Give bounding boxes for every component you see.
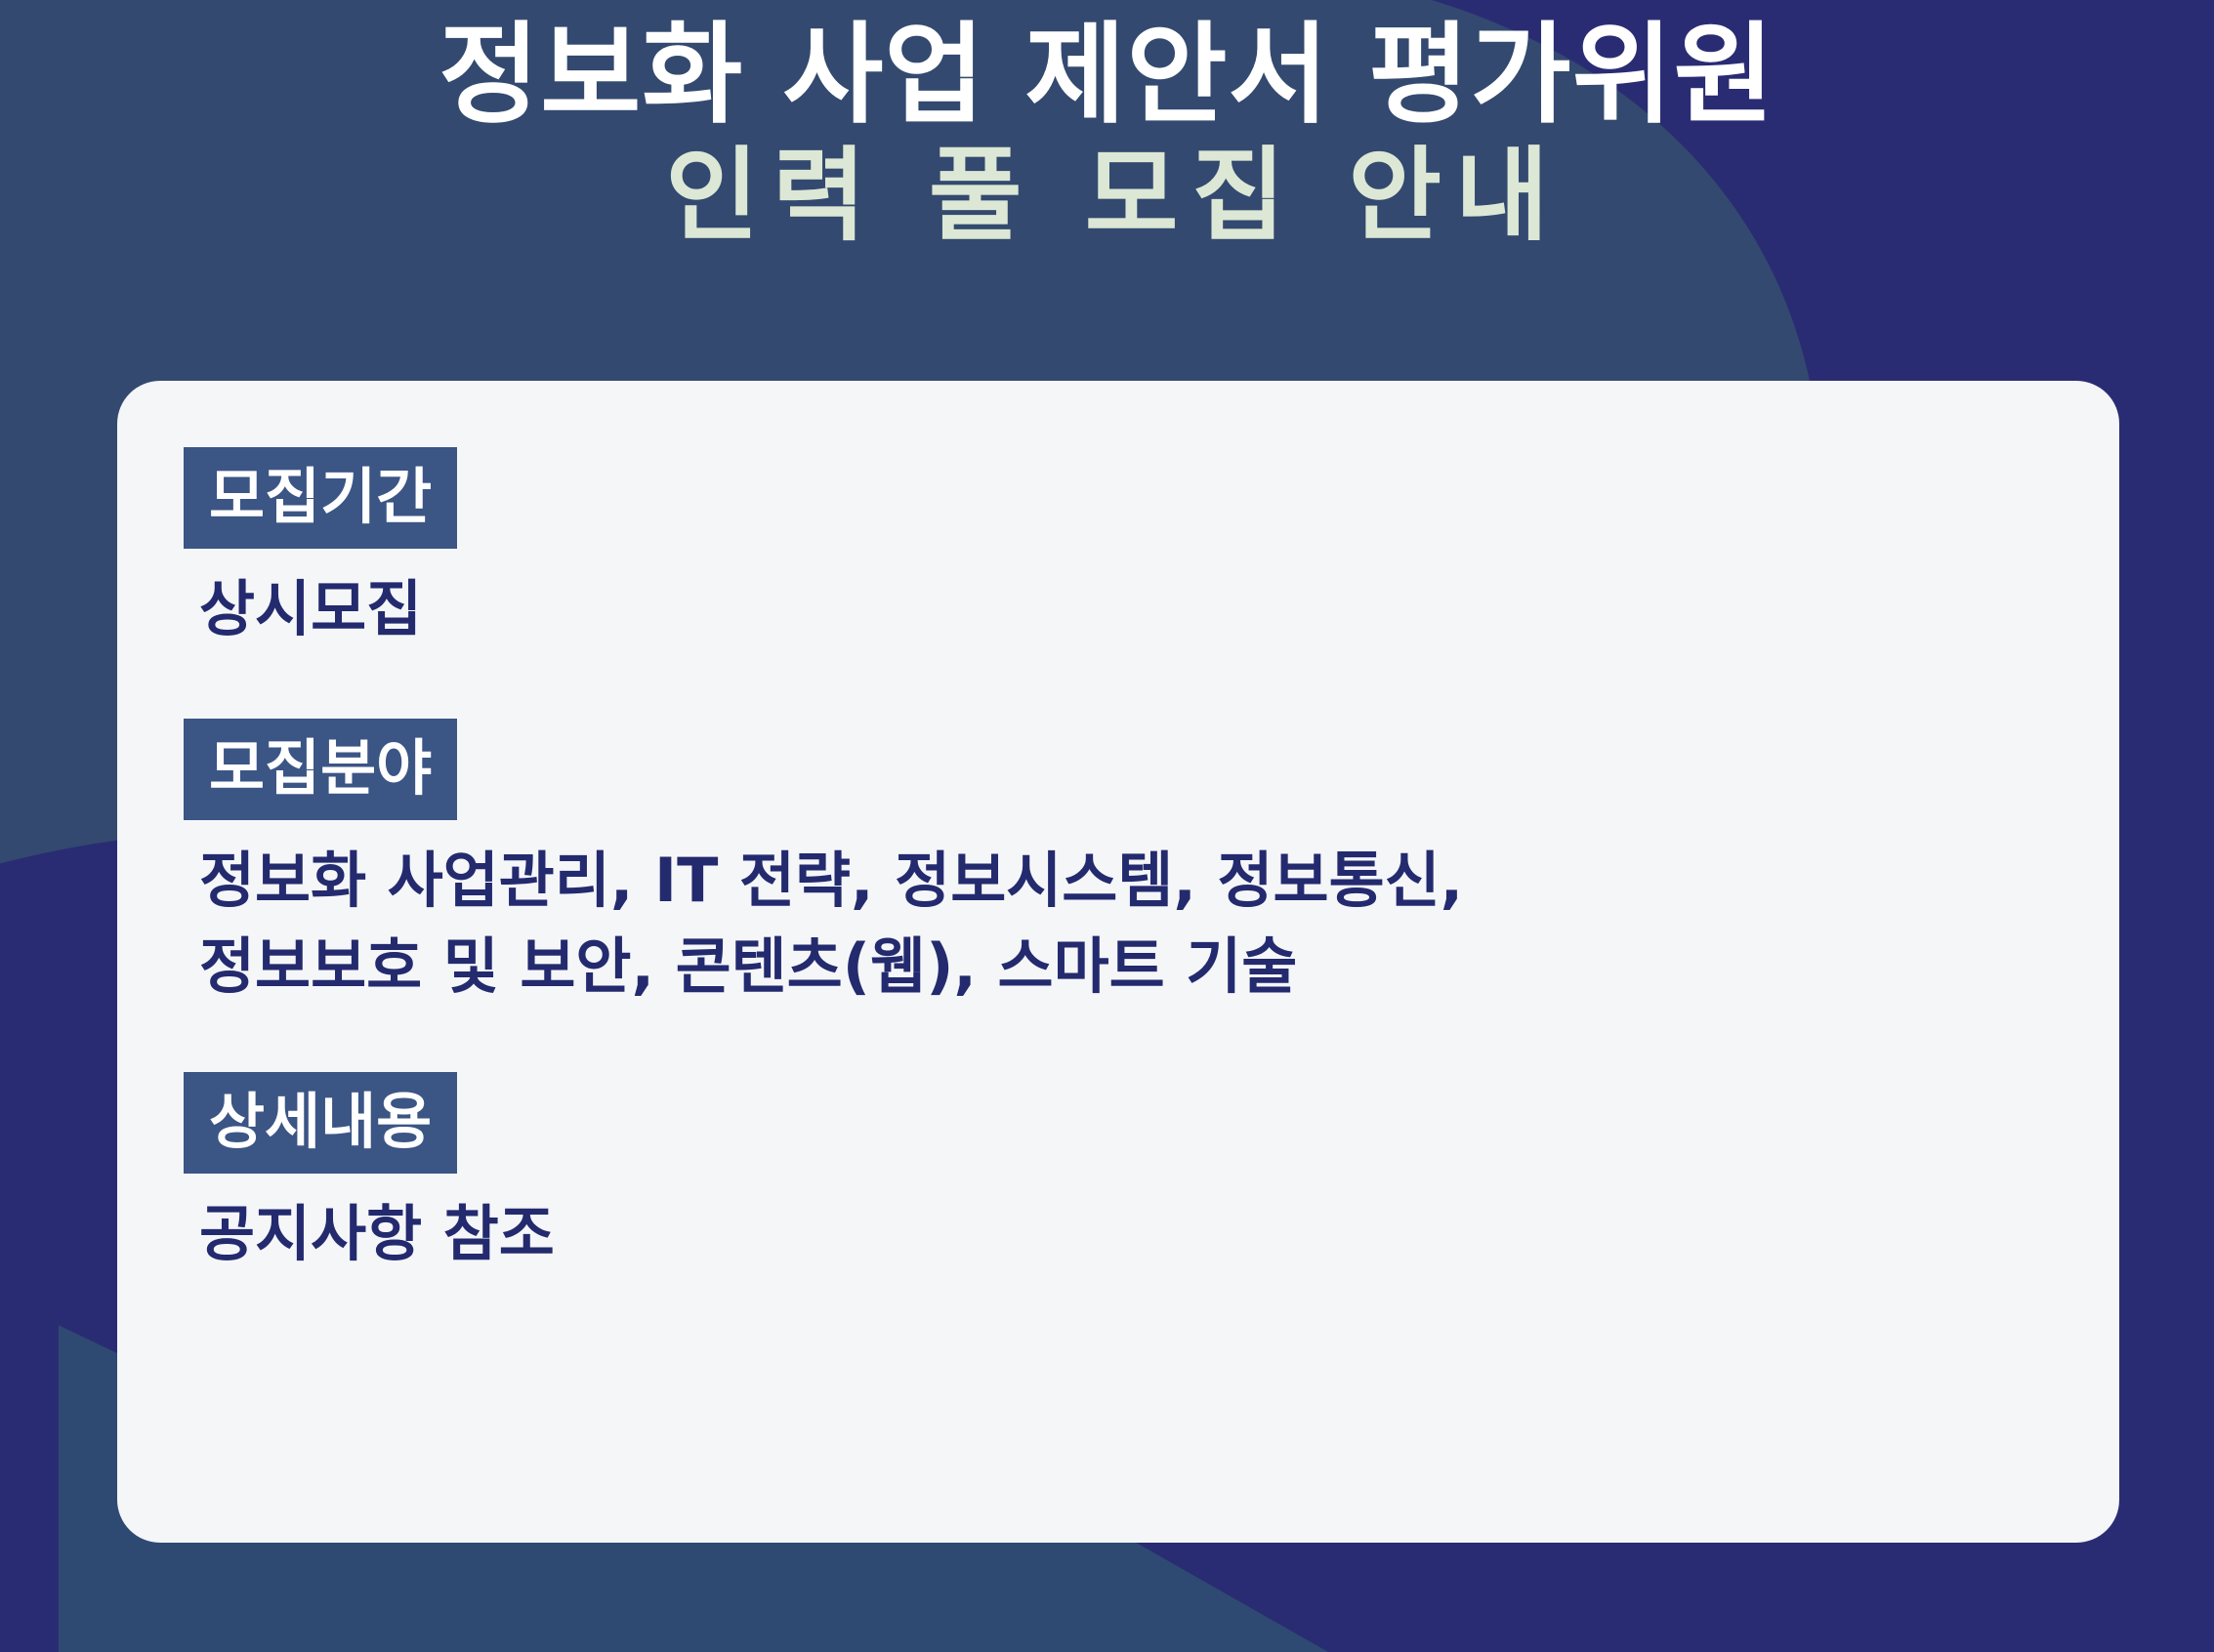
section-body-recruitment-fields: 정보화 사업관리, IT 전략, 정보시스템, 정보통신, 정보보호 및 보안,… — [184, 838, 2119, 1010]
section-details: 상세내용 공지사항 참조 — [117, 1072, 2119, 1277]
section-body-details: 공지사항 참조 — [184, 1191, 2119, 1277]
section-badge-recruitment-period: 모집기간 — [184, 447, 457, 549]
band-left-edge — [0, 1123, 59, 1652]
title-line-primary: 정보화 사업 제안서 평가위원 — [0, 14, 2214, 139]
section-recruitment-period: 모집기간 상시모집 — [117, 447, 2119, 652]
body-line: 상시모집 — [199, 566, 2119, 652]
section-recruitment-fields: 모집분야 정보화 사업관리, IT 전략, 정보시스템, 정보통신, 정보보호 … — [117, 719, 2119, 1010]
section-badge-details: 상세내용 — [184, 1072, 457, 1174]
title-line-secondary: 인력 풀 모집 안내 — [0, 139, 2214, 252]
section-badge-recruitment-fields: 모집분야 — [184, 719, 457, 820]
body-line: 정보화 사업관리, IT 전략, 정보시스템, 정보통신, — [199, 838, 2119, 924]
section-body-recruitment-period: 상시모집 — [184, 566, 2119, 652]
body-line: 공지사항 참조 — [199, 1191, 2119, 1277]
poster-title: 정보화 사업 제안서 평가위원 인력 풀 모집 안내 — [0, 14, 2214, 252]
content-card: 모집기간 상시모집 모집분야 정보화 사업관리, IT 전략, 정보시스템, 정… — [117, 381, 2119, 1543]
poster-root: 정보화 사업 제안서 평가위원 인력 풀 모집 안내 모집기간 상시모집 모집분… — [0, 0, 2214, 1652]
body-line: 정보보호 및 보안, 콘텐츠(웹), 스마트 기술 — [199, 924, 2119, 1010]
